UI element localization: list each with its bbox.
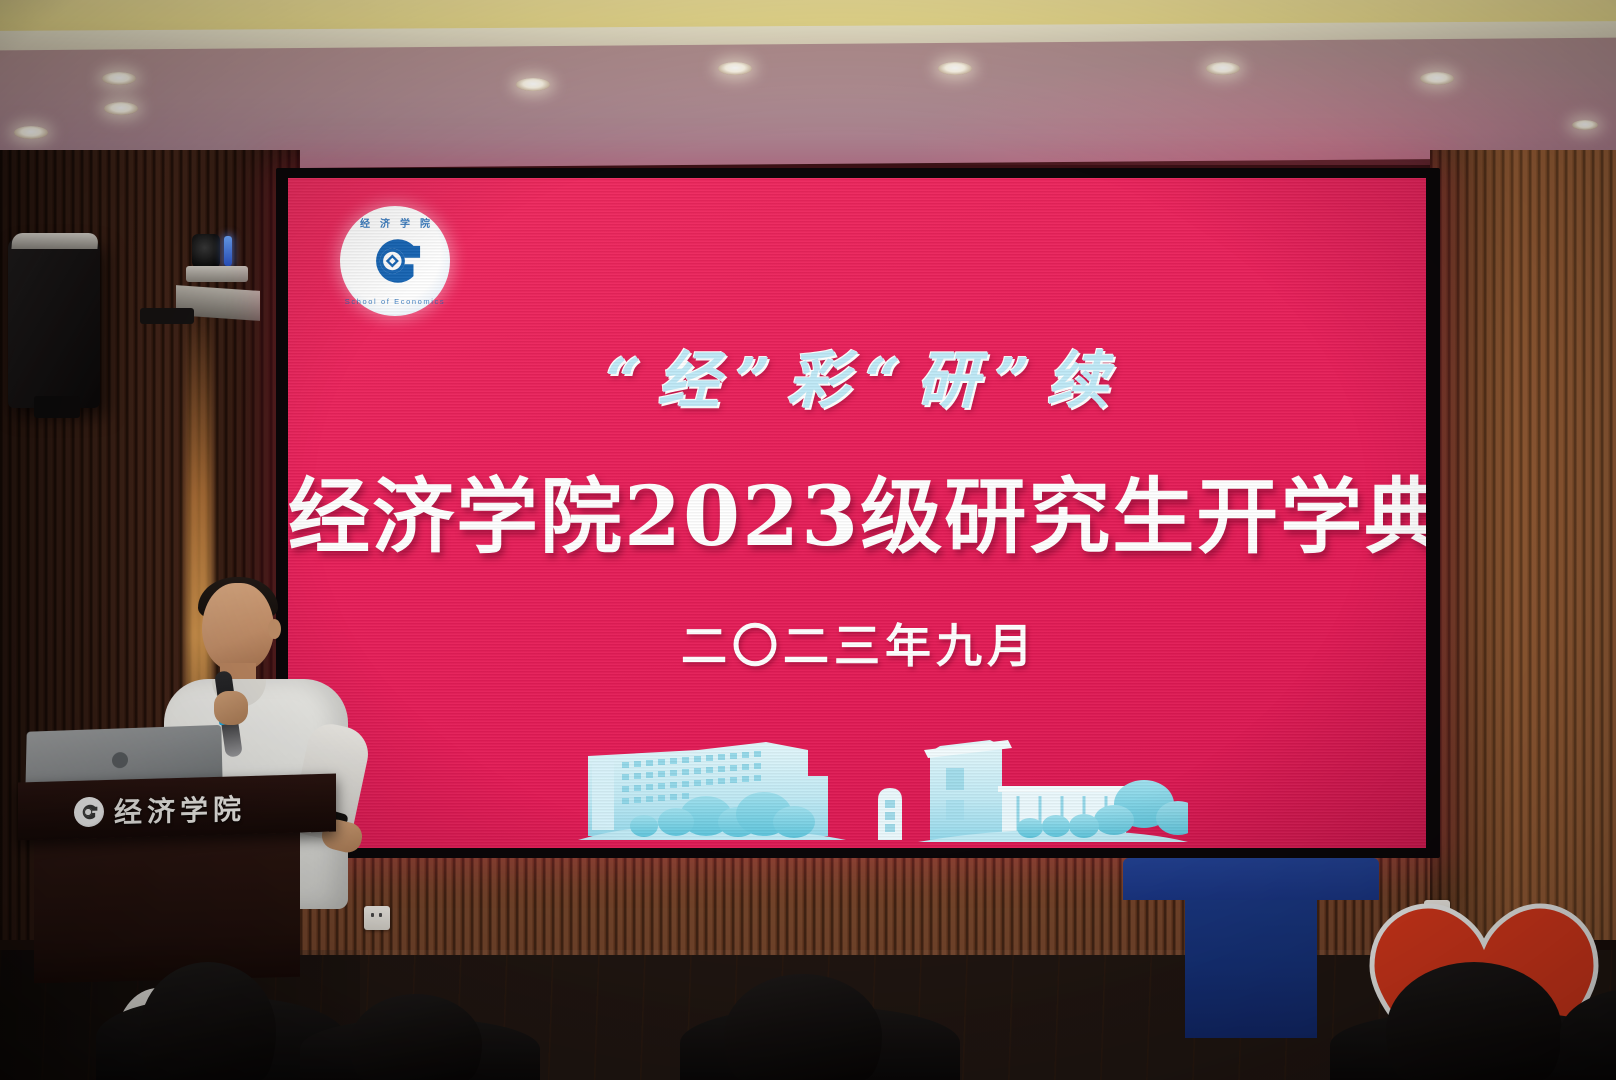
blue-stage-stand <box>1185 858 1317 1038</box>
camera-lens-icon <box>192 234 220 268</box>
ceiling-spot-light <box>718 62 752 75</box>
school-of-economics-emblem: 经济学院 School of Economics <box>340 206 450 316</box>
camera-status-led <box>224 236 232 266</box>
soffit-screen-glow <box>900 50 1616 165</box>
presenter-mic-hand <box>214 691 248 725</box>
emblem-monogram-icon <box>362 228 428 294</box>
laptop-logo-icon <box>112 752 128 769</box>
ceiling-spot-light <box>1572 120 1598 130</box>
emblem-chinese-text: 经济学院 <box>340 215 450 230</box>
ceiling-spot-light <box>1420 72 1454 85</box>
emblem-english-text: School of Economics <box>340 297 450 306</box>
podium-nameplate: 经济学院 <box>74 788 246 833</box>
auditorium-scene: 经济学院 School of Economics “经”彩“研”续 经济学院20… <box>0 0 1616 1080</box>
ceiling-spot-light <box>102 72 136 85</box>
ceiling-spot-light <box>516 78 550 91</box>
camera-body <box>186 266 248 282</box>
podium-label-text: 经济学院 <box>114 788 246 832</box>
ptz-camera-icon <box>186 232 248 288</box>
ceiling-spot-light <box>938 62 972 75</box>
campus-skyline-illustration <box>578 704 1188 846</box>
cable-junction-box <box>140 308 194 324</box>
slide-headline: “经”彩“研”续 <box>288 330 1426 420</box>
blue-stand-top-bar <box>1123 858 1379 900</box>
led-screen-bezel: 经济学院 School of Economics “经”彩“研”续 经济学院20… <box>276 168 1440 858</box>
ceiling-spot-light <box>1206 62 1240 75</box>
presenter-ear <box>268 619 281 639</box>
school-of-economics-emblem-mini <box>74 797 104 828</box>
slide-main-title: 经济学院2023级研究生开学典礼 <box>288 450 1426 569</box>
led-screen: 经济学院 School of Economics “经”彩“研”续 经济学院20… <box>288 178 1426 848</box>
presenter-head <box>202 583 274 671</box>
wall-speaker <box>8 238 100 408</box>
speaker-bracket <box>34 396 80 418</box>
emblem-monogram-mini-icon <box>78 801 100 824</box>
ceiling-spot-light <box>104 102 138 115</box>
podium-body <box>34 829 300 984</box>
ceiling-spot-light <box>14 126 48 139</box>
speaker-top-cap <box>11 233 98 249</box>
power-outlet-icon <box>364 906 390 930</box>
slide-event-date: 二〇二三年九月 <box>288 610 1426 676</box>
wall-right-warm-wash <box>1430 150 1616 940</box>
